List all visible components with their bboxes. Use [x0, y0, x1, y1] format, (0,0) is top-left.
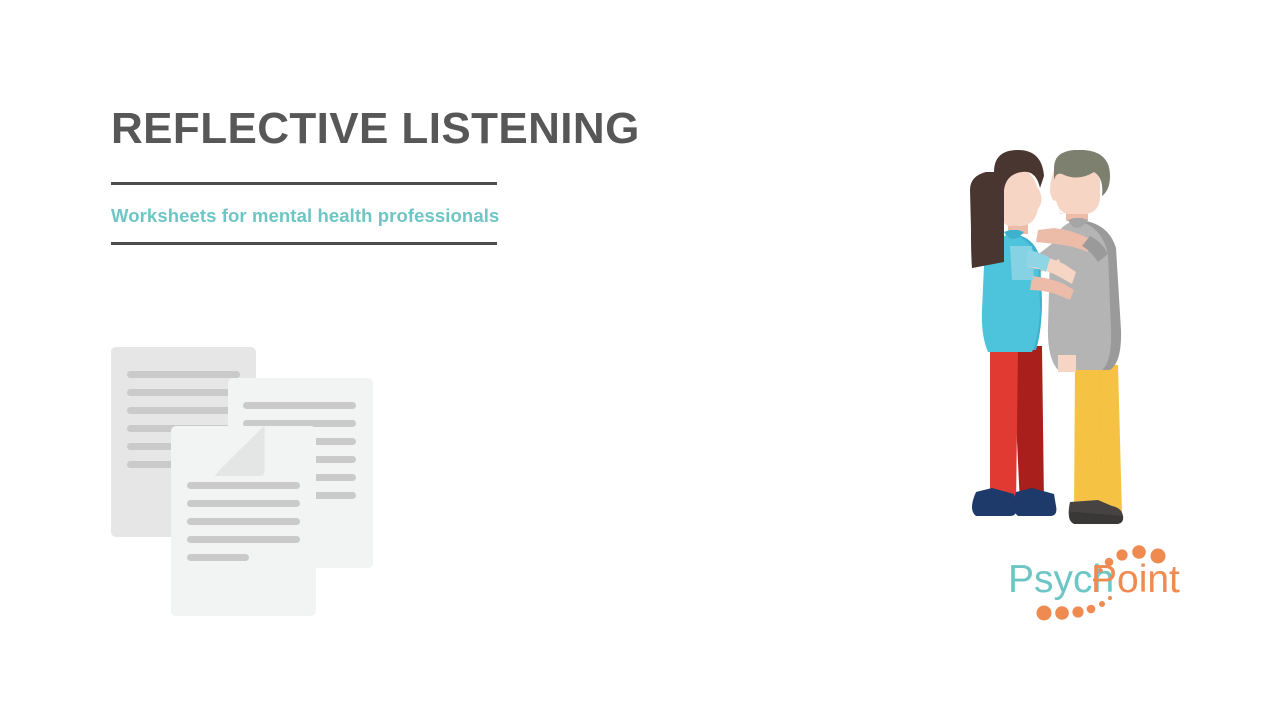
psychpoint-logo: Psych Point [1008, 542, 1183, 622]
divider-line-bottom [111, 242, 497, 245]
logo-text-point: Point [1091, 558, 1180, 601]
slide-canvas: REFLECTIVE LISTENING Worksheets for ment… [0, 0, 1280, 720]
page-title: REFLECTIVE LISTENING [111, 100, 811, 158]
title-block: REFLECTIVE LISTENING [111, 100, 811, 158]
worksheet-documents-illustration [105, 340, 395, 630]
page-subtitle: Worksheets for mental health professiona… [111, 202, 499, 230]
two-people-talking-illustration [950, 150, 1165, 550]
divider-line-top [111, 182, 497, 185]
